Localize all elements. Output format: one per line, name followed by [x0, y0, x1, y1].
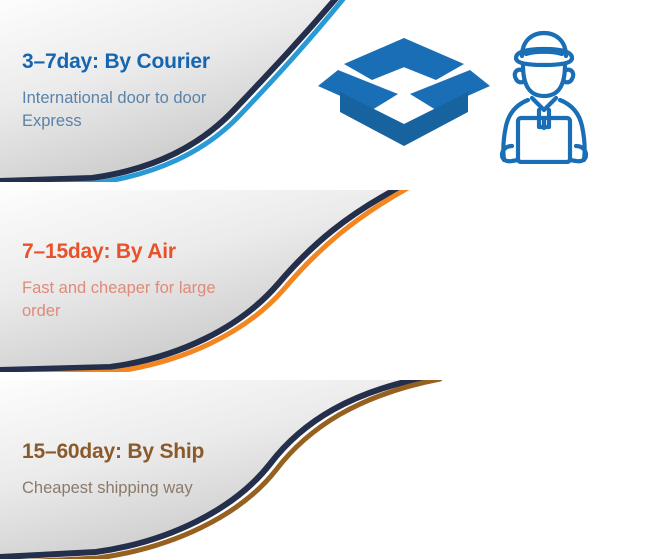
panel-air-background	[0, 190, 650, 372]
panel-ship-background	[0, 380, 650, 559]
panel-ship: 15–60day: By Ship Cheapest shipping way	[0, 380, 650, 559]
panel-courier: 3–7day: By Courier International door to…	[0, 0, 650, 182]
courier-person-icon	[482, 24, 606, 164]
panel-air: 7–15day: By Air Fast and cheaper for lar…	[0, 190, 650, 372]
open-box-icon	[318, 34, 490, 154]
shipping-methods-infographic: 3–7day: By Courier International door to…	[0, 0, 650, 559]
